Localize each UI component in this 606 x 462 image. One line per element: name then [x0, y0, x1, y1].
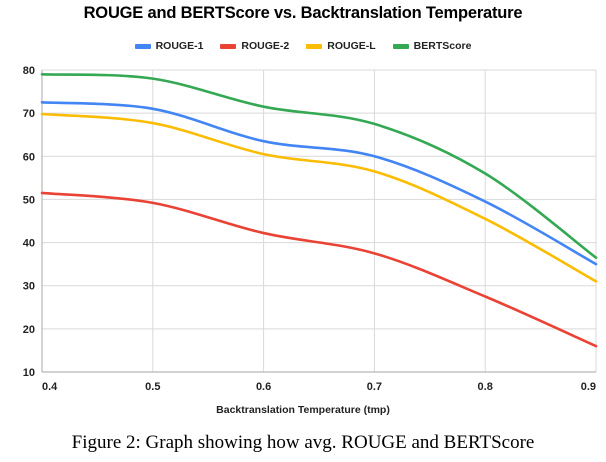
legend-item-bertscore[interactable]: BERTScore: [393, 40, 472, 52]
legend-item-rouge-l[interactable]: ROUGE-L: [306, 40, 375, 52]
series-line-rouge-l: [42, 114, 596, 281]
plot-area: 1020304050607080 0.40.50.60.70.80.9: [0, 60, 606, 400]
line-chart-svg: 1020304050607080 0.40.50.60.70.80.9: [0, 60, 606, 400]
y-tick-label: 10: [23, 367, 35, 379]
legend-label: ROUGE-L: [327, 40, 375, 52]
y-axis-tick-labels: 1020304050607080: [23, 65, 35, 379]
legend-swatch-icon: [393, 44, 409, 49]
grid-lines: [42, 70, 596, 372]
data-series-group: [42, 74, 596, 346]
legend-label: ROUGE-2: [241, 40, 289, 52]
x-tick-label: 0.6: [256, 381, 271, 393]
y-tick-label: 70: [23, 108, 35, 120]
legend-swatch-icon: [220, 44, 236, 49]
y-tick-label: 20: [23, 324, 35, 336]
y-tick-label: 80: [23, 65, 35, 77]
x-axis-title: Backtranslation Temperature (tmp): [0, 404, 606, 416]
x-tick-label: 0.8: [478, 381, 493, 393]
figure-caption: Figure 2: Graph showing how avg. ROUGE a…: [0, 432, 606, 454]
x-tick-label: 0.4: [42, 381, 58, 393]
legend-item-rouge-1[interactable]: ROUGE-1: [135, 40, 204, 52]
series-line-rouge-1: [42, 102, 596, 264]
legend-label: ROUGE-1: [156, 40, 204, 52]
chart-legend: ROUGE-1 ROUGE-2 ROUGE-L BERTScore: [0, 40, 606, 52]
x-tick-label: 0.9: [581, 381, 596, 393]
y-tick-label: 40: [23, 238, 35, 250]
legend-label: BERTScore: [414, 40, 472, 52]
figure-container: ROUGE and BERTScore vs. Backtranslation …: [0, 0, 606, 462]
x-tick-label: 0.5: [145, 381, 160, 393]
x-axis-tick-labels: 0.40.50.60.70.80.9: [42, 381, 596, 393]
legend-swatch-icon: [135, 44, 151, 49]
y-tick-label: 50: [23, 194, 35, 206]
series-line-bertscore: [42, 74, 596, 257]
legend-swatch-icon: [306, 44, 322, 49]
x-tick-label: 0.7: [367, 381, 382, 393]
chart-title: ROUGE and BERTScore vs. Backtranslation …: [0, 4, 606, 23]
axis-lines: [42, 70, 596, 372]
legend-item-rouge-2[interactable]: ROUGE-2: [220, 40, 289, 52]
y-tick-label: 60: [23, 151, 35, 163]
y-tick-label: 30: [23, 281, 35, 293]
